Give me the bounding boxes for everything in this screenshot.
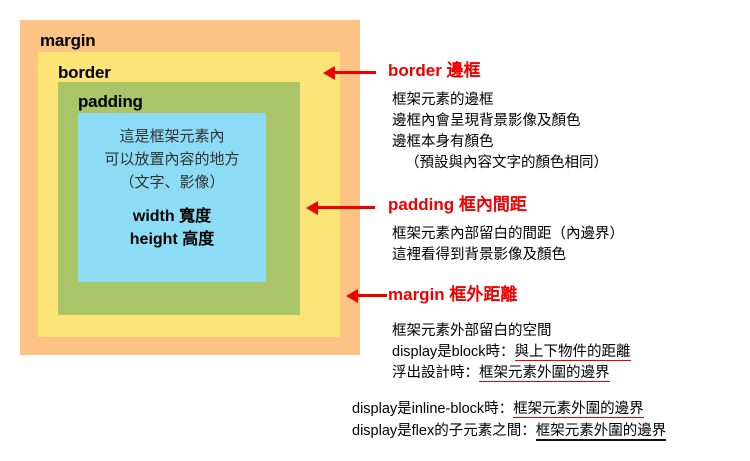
annotation-line-emphasis: 與上下物件的距離 [515, 344, 631, 361]
annotation-line: （預設與內容文字的顏色相同） [392, 153, 608, 174]
content-height-label: height 高度 [130, 228, 214, 251]
annotation-line-emphasis: 框架元素外圍的邊界 [536, 423, 667, 441]
annotation-line: 邊框內會呈現背景影像及顏色 [392, 111, 608, 132]
annotation-line-emphasis: 框架元素外圍的邊界 [479, 365, 610, 382]
annotation-block-padding: padding 框內間距 框架元素內部留白的間距（內邊界） 這裡看得到背景影像及… [388, 196, 624, 266]
content-text-line: 這是框架元素內 [119, 125, 224, 148]
annotation-line: 框架元素外部留白的空間 [392, 321, 631, 342]
content-layer: 這是框架元素內 可以放置內容的地方 （文字、影像） width 寬度 heigh… [78, 113, 266, 282]
margin-callout-arrow-icon [357, 294, 387, 297]
content-dimensions: width 寬度 height 高度 [130, 205, 214, 251]
annotation-heading-margin: margin 框外距離 [388, 286, 631, 305]
content-text-line: （文字、影像） [119, 171, 224, 194]
annotation-line: 這裡看得到背景影像及顏色 [392, 245, 624, 266]
annotation-line: 浮出設計時：框架元素外圍的邊界 [392, 363, 631, 384]
annotation-block-margin: margin 框外距離 框架元素外部留白的空間 display是block時：與… [388, 286, 631, 384]
margin-layer-label: margin [40, 32, 95, 49]
border-layer-label: border [58, 64, 111, 81]
annotation-heading-border: border 邊框 [388, 62, 608, 81]
annotation-line-prefix: display是block時： [392, 344, 515, 360]
annotation-line-prefix: display是flex的子元素之間： [352, 423, 536, 439]
annotation-line-prefix: 浮出設計時： [392, 365, 479, 381]
annotation-block-extra-notes: display是inline-block時：框架元素外圍的邊界 display是… [352, 398, 666, 442]
padding-layer: padding 這是框架元素內 可以放置內容的地方 （文字、影像） width … [58, 82, 300, 315]
annotation-block-border: border 邊框 框架元素的邊框 邊框內會呈現背景影像及顏色 邊框本身有顏色 … [388, 62, 608, 174]
annotation-line-emphasis: 框架元素外圍的邊界 [513, 401, 644, 418]
padding-callout-arrow-icon [317, 206, 375, 209]
annotation-body-padding: 框架元素內部留白的間距（內邊界） 這裡看得到背景影像及顏色 [388, 224, 624, 266]
annotation-line: display是inline-block時：框架元素外圍的邊界 [352, 398, 666, 420]
border-callout-arrow-icon [334, 71, 376, 74]
annotation-line: display是block時：與上下物件的距離 [392, 342, 631, 363]
annotation-line: 框架元素的邊框 [392, 90, 608, 111]
border-layer: border padding 這是框架元素內 可以放置內容的地方 （文字、影像）… [38, 52, 340, 337]
content-width-label: width 寬度 [130, 205, 214, 228]
annotation-body-border: 框架元素的邊框 邊框內會呈現背景影像及顏色 邊框本身有顏色 （預設與內容文字的顏… [388, 90, 608, 174]
annotation-line-prefix: display是inline-block時： [352, 401, 513, 417]
annotation-line: 邊框本身有顏色 [392, 132, 608, 153]
padding-layer-label: padding [78, 93, 143, 110]
annotation-body-margin: 框架元素外部留白的空間 display是block時：與上下物件的距離 浮出設計… [388, 321, 631, 384]
annotation-heading-padding: padding 框內間距 [388, 196, 624, 215]
annotation-line: display是flex的子元素之間：框架元素外圍的邊界 [352, 420, 666, 442]
content-text-line: 可以放置內容的地方 [104, 148, 239, 171]
annotation-line: 框架元素內部留白的間距（內邊界） [392, 224, 624, 245]
box-model-diagram: margin border padding 這是框架元素內 可以放置內容的地方 … [20, 20, 360, 355]
